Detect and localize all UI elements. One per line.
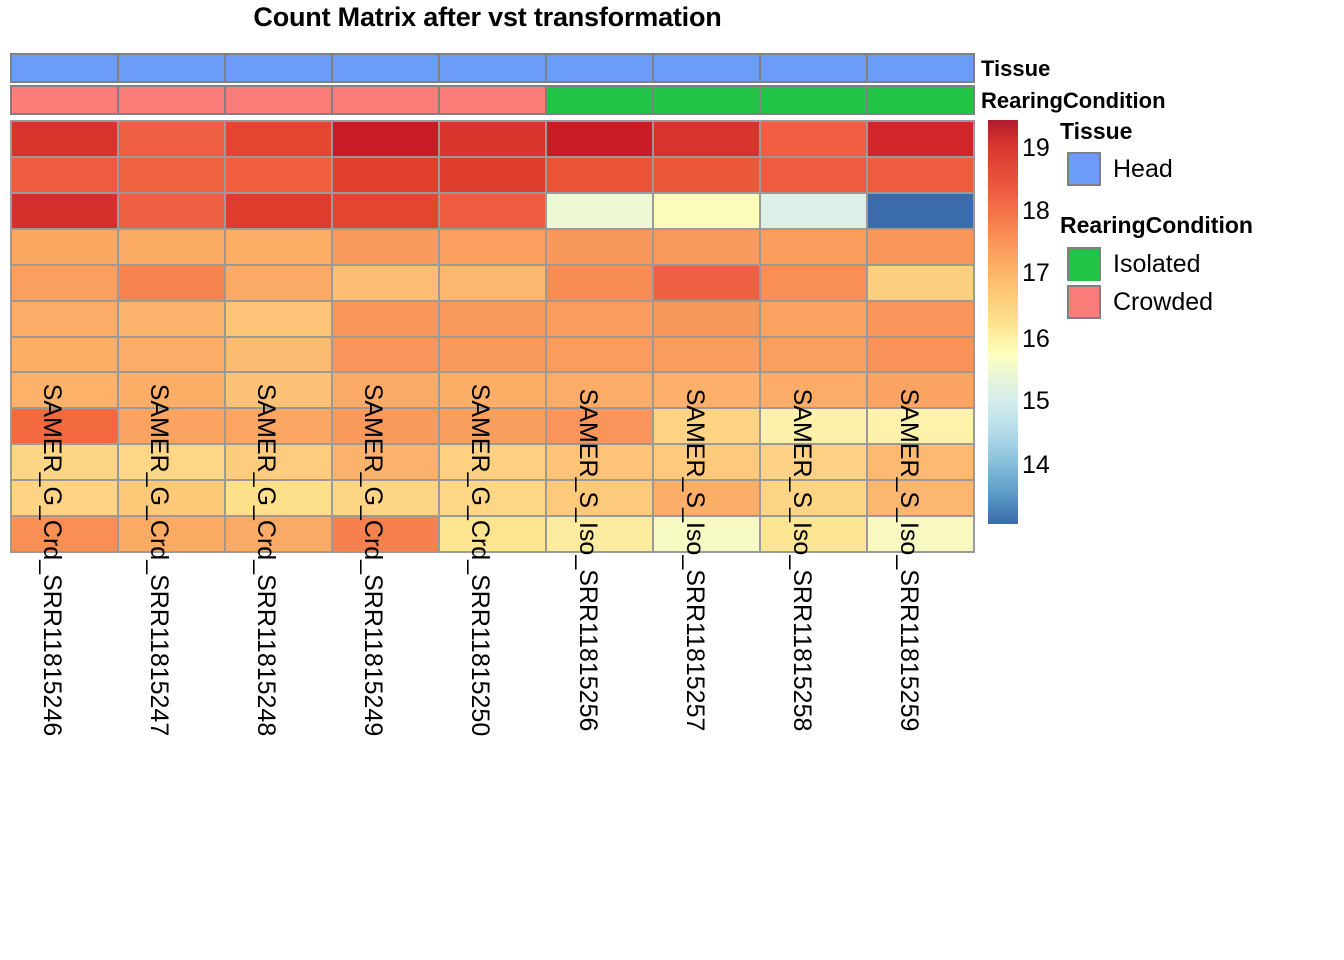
- heatmap-cell: [119, 122, 226, 156]
- column-label-strip: SAMER_G_Crd_SRR11815246SAMER_G_Crd_SRR11…: [10, 556, 975, 956]
- heatmap-cell: [868, 194, 973, 228]
- annotation-tissue-cell: [226, 55, 333, 81]
- heatmap-cell: [440, 122, 547, 156]
- heatmap-cell: [547, 194, 654, 228]
- annotation-tissue-cell: [12, 55, 119, 81]
- heatmap-cell: [868, 230, 973, 264]
- colorbar-tick-label: 15: [1022, 389, 1050, 414]
- column-label-slot: SAMER_G_Crd_SRR11815247: [117, 556, 224, 956]
- heatmap-cell: [868, 158, 973, 192]
- heatmap-cell: [654, 230, 761, 264]
- column-label-slot: SAMER_S_Iso_SRR11815258: [761, 556, 868, 956]
- heatmap-cell: [547, 122, 654, 156]
- heatmap-cell: [654, 338, 761, 372]
- annotation-bar-tissue: [10, 53, 975, 83]
- heatmap-cell: [868, 266, 973, 300]
- heatmap-cell: [761, 122, 868, 156]
- heatmap-cell: [333, 158, 440, 192]
- legend-item-head[interactable]: Head: [1067, 152, 1173, 186]
- legend-swatch-crowded: [1067, 285, 1101, 319]
- column-label-slot: SAMER_G_Crd_SRR11815246: [10, 556, 117, 956]
- heatmap-cell: [12, 230, 119, 264]
- heatmap-cell: [226, 194, 333, 228]
- heatmap-cell: [761, 266, 868, 300]
- column-label: SAMER_S_Iso_SRR11815259: [896, 389, 921, 732]
- page-title: Count Matrix after vst transformation: [0, 2, 975, 33]
- legend-swatch-isolated: [1067, 247, 1101, 281]
- heatmap-cell: [868, 338, 973, 372]
- column-label: SAMER_G_Crd_SRR11815249: [360, 384, 385, 737]
- heatmap-cell: [12, 302, 119, 336]
- heatmap-cell: [547, 230, 654, 264]
- colorbar-tick-label: 18: [1022, 199, 1050, 224]
- heatmap-row: [12, 338, 973, 374]
- heatmap-cell: [119, 230, 226, 264]
- column-label: SAMER_G_Crd_SRR11815248: [253, 384, 278, 737]
- heatmap-cell: [440, 266, 547, 300]
- colorbar-tick-label: 19: [1022, 136, 1050, 161]
- heatmap-cell: [440, 158, 547, 192]
- colorbar-gradient: [988, 120, 1018, 524]
- heatmap-cell: [333, 302, 440, 336]
- heatmap-cell: [12, 266, 119, 300]
- heatmap-cell: [547, 158, 654, 192]
- heatmap-cell: [654, 194, 761, 228]
- heatmap-cell: [12, 194, 119, 228]
- heatmap-cell: [547, 266, 654, 300]
- annotation-tissue-cell: [119, 55, 226, 81]
- heatmap-row: [12, 194, 973, 230]
- heatmap-row: [12, 230, 973, 266]
- annotation-tissue-cell: [654, 55, 761, 81]
- column-label-slot: SAMER_S_Iso_SRR11815257: [653, 556, 760, 956]
- annotation-rearing-cell: [761, 87, 868, 113]
- column-label-slot: SAMER_G_Crd_SRR11815250: [439, 556, 546, 956]
- heatmap-cell: [119, 302, 226, 336]
- heatmap-cell: [333, 194, 440, 228]
- heatmap-cell: [868, 302, 973, 336]
- legend-label-isolated: Isolated: [1113, 250, 1201, 279]
- annotation-rearing-cell: [226, 87, 333, 113]
- heatmap-cell: [761, 194, 868, 228]
- colorbar-tick-label: 16: [1022, 327, 1050, 352]
- colorbar-tick-label: 14: [1022, 453, 1050, 478]
- annotation-tissue-cell: [868, 55, 973, 81]
- heatmap-cell: [761, 338, 868, 372]
- colorbar-tick-label: 17: [1022, 261, 1050, 286]
- annotation-rearing-cell: [440, 87, 547, 113]
- annotation-label-tissue: Tissue: [981, 56, 1050, 82]
- heatmap-cell: [12, 338, 119, 372]
- heatmap-cell: [654, 266, 761, 300]
- heatmap-cell: [119, 158, 226, 192]
- heatmap-cell: [119, 194, 226, 228]
- annotation-rearing-cell: [547, 87, 654, 113]
- heatmap-cell: [119, 266, 226, 300]
- annotation-rearing-cell: [654, 87, 761, 113]
- heatmap-row: [12, 158, 973, 194]
- legend-item-crowded[interactable]: Crowded: [1067, 285, 1213, 319]
- heatmap-cell: [547, 302, 654, 336]
- heatmap-row: [12, 122, 973, 158]
- annotation-tissue-cell: [761, 55, 868, 81]
- heatmap-cell: [12, 122, 119, 156]
- annotation-rearing-cell: [12, 87, 119, 113]
- column-label: SAMER_S_Iso_SRR11815258: [789, 389, 814, 732]
- column-label: SAMER_G_Crd_SRR11815246: [39, 384, 64, 737]
- column-label-slot: SAMER_G_Crd_SRR11815249: [332, 556, 439, 956]
- heatmap-cell: [440, 230, 547, 264]
- heatmap-cell: [226, 122, 333, 156]
- heatmap-cell: [547, 338, 654, 372]
- legend-title-rearing-condition: RearingCondition: [1060, 212, 1253, 239]
- annotation-rearing-cell: [119, 87, 226, 113]
- legend-title-tissue: Tissue: [1060, 118, 1132, 145]
- heatmap-cell: [12, 158, 119, 192]
- heatmap-cell: [440, 194, 547, 228]
- annotation-label-rearing-condition: RearingCondition: [981, 88, 1166, 114]
- heatmap-cell: [761, 158, 868, 192]
- annotation-tissue-cell: [440, 55, 547, 81]
- heatmap-figure: Count Matrix after vst transformation Ti…: [0, 0, 1344, 960]
- heatmap-cell: [654, 158, 761, 192]
- column-label: SAMER_G_Crd_SRR11815250: [467, 384, 492, 737]
- heatmap-row: [12, 266, 973, 302]
- heatmap-cell: [333, 230, 440, 264]
- heatmap-cell: [333, 338, 440, 372]
- legend-item-isolated[interactable]: Isolated: [1067, 247, 1201, 281]
- heatmap-cell: [226, 302, 333, 336]
- column-label-slot: SAMER_S_Iso_SRR11815259: [868, 556, 975, 956]
- annotation-rearing-cell: [333, 87, 440, 113]
- heatmap-cell: [868, 122, 973, 156]
- heatmap-cell: [761, 230, 868, 264]
- legend-label-crowded: Crowded: [1113, 288, 1213, 317]
- heatmap-cell: [654, 122, 761, 156]
- annotation-tissue-cell: [333, 55, 440, 81]
- column-label-slot: SAMER_G_Crd_SRR11815248: [224, 556, 331, 956]
- column-label: SAMER_S_Iso_SRR11815257: [682, 389, 707, 732]
- heatmap-cell: [226, 266, 333, 300]
- heatmap-cell: [226, 338, 333, 372]
- heatmap-row: [12, 302, 973, 338]
- heatmap-cell: [654, 302, 761, 336]
- heatmap-cell: [333, 122, 440, 156]
- heatmap-cell: [226, 158, 333, 192]
- column-label-slot: SAMER_S_Iso_SRR11815256: [546, 556, 653, 956]
- heatmap-cell: [226, 230, 333, 264]
- heatmap-cell: [333, 266, 440, 300]
- heatmap-cell: [440, 302, 547, 336]
- heatmap-cell: [440, 338, 547, 372]
- column-label: SAMER_S_Iso_SRR11815256: [575, 389, 600, 732]
- annotation-bar-rearing-condition: [10, 85, 975, 115]
- heatmap-cell: [119, 338, 226, 372]
- legend-label-head: Head: [1113, 155, 1173, 184]
- heatmap-cell: [761, 302, 868, 336]
- legend-swatch-head: [1067, 152, 1101, 186]
- column-label: SAMER_G_Crd_SRR11815247: [146, 384, 171, 737]
- annotation-rearing-cell: [868, 87, 973, 113]
- annotation-tissue-cell: [547, 55, 654, 81]
